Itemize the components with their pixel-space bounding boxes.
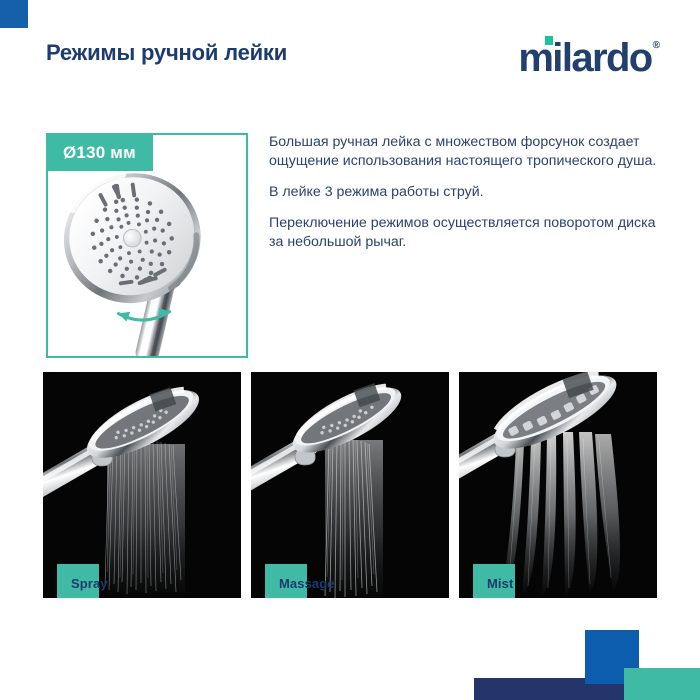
logo-tittle-square-icon [545,36,553,45]
mode-card-mist: Mist [459,372,657,598]
mode-card-list: Spray [43,372,658,598]
brand-wordmark-text: milardo [518,36,651,80]
poster-canvas: Режимы ручной лейки milardo ® [0,0,700,700]
page-title: Режимы ручной лейки [46,40,287,66]
corner-accent-square-top-left [0,0,28,28]
mode-label-mist: Mist [487,576,513,591]
diameter-badge: Ø130 мм [48,135,153,171]
registered-trademark-icon: ® [653,40,660,51]
brand-logo: milardo ® [518,38,660,78]
mode-card-massage: Massage [251,372,449,598]
mode-label-spray: Spray [71,576,108,591]
brand-wordmark: milardo [518,38,651,78]
mode-label-massage: Massage [279,576,335,591]
corner-accent-square-teal [624,668,700,700]
hero-paragraph-2: В лейке 3 режима работы струй. [269,183,665,202]
hero-description: Большая ручная лейка с множеством форсун… [269,133,665,251]
hero-paragraph-1: Большая ручная лейка с множеством форсун… [269,133,665,171]
product-hero-box: Ø130 мм [46,133,248,358]
hero-paragraph-3: Переключение режимов осуществляется пово… [269,214,665,252]
mode-card-spray: Spray [43,372,241,598]
